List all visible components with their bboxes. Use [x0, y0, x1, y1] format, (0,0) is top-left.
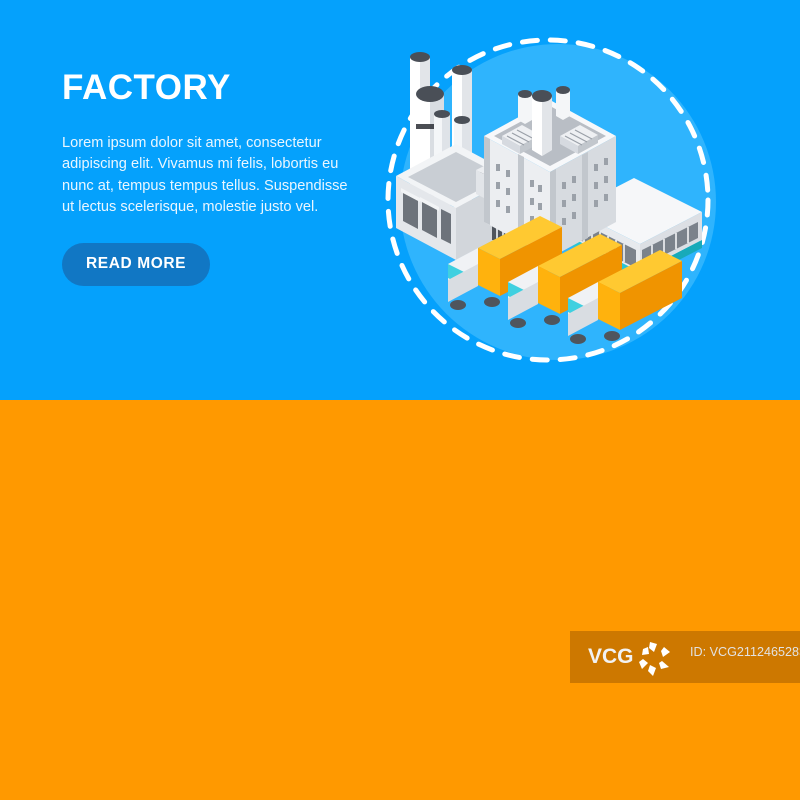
factory-text-block: FACTORY Lorem ipsum dolor sit amet, cons… — [62, 70, 362, 286]
watermark-id-text: ID: VCG211246528340 — [690, 645, 800, 659]
svg-text:VCG: VCG — [588, 645, 634, 668]
factory-read-more-button[interactable]: READ MORE — [62, 243, 210, 286]
factory-body-text: Lorem ipsum dolor sit amet, consectetur … — [62, 133, 362, 219]
watermark-band: VCG ID: VCG211246528340 — [570, 631, 800, 683]
vcg-logo-icon: VCG — [588, 639, 674, 677]
factory-banner-panel: FACTORY Lorem ipsum dolor sit amet, cons… — [0, 0, 800, 400]
poster-canvas: FACTORY Lorem ipsum dolor sit amet, cons… — [0, 0, 800, 800]
factory-title: FACTORY — [62, 70, 362, 105]
production-banner-panel: PRODUCTION Lorem ipsum dolor sit amet, c… — [0, 400, 800, 800]
factory-illustration — [372, 24, 724, 376]
